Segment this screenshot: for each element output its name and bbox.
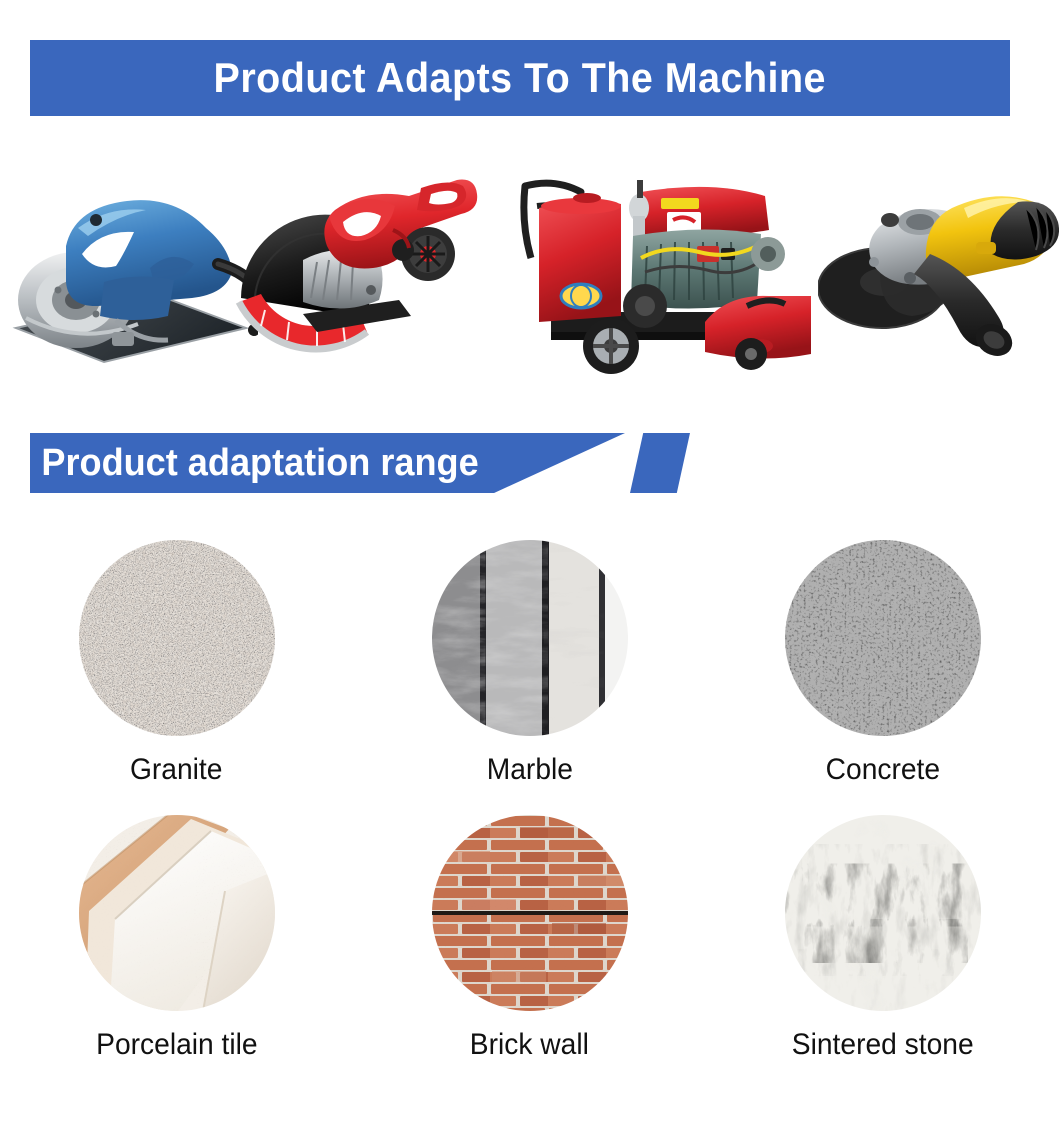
material-item-porcelain-tile[interactable]: Porcelain tile bbox=[0, 815, 353, 1090]
concrete-swatch-icon bbox=[785, 540, 981, 736]
material-label-sintered-stone: Sintered stone bbox=[792, 1030, 974, 1060]
material-grid: Granite bbox=[0, 540, 1059, 1090]
adaptation-range-bar: Product adaptation range bbox=[30, 433, 625, 493]
material-label-brick-wall: Brick wall bbox=[470, 1030, 589, 1060]
slash-decoration-icon bbox=[630, 433, 690, 493]
material-row: Granite bbox=[0, 540, 1059, 815]
material-row: Porcelain tile bbox=[0, 815, 1059, 1090]
granite-swatch-icon bbox=[79, 540, 275, 736]
material-label-porcelain-tile: Porcelain tile bbox=[96, 1030, 257, 1060]
material-label-granite: Granite bbox=[130, 755, 222, 785]
material-item-brick-wall[interactable]: Brick wall bbox=[353, 815, 706, 1090]
machine-image-blue-marble-cutter bbox=[8, 150, 258, 400]
material-label-concrete: Concrete bbox=[825, 755, 939, 785]
material-item-concrete[interactable]: Concrete bbox=[706, 540, 1059, 815]
machine-image-yellow-angle-grinder bbox=[818, 150, 1059, 400]
main-title-banner: Product Adapts To The Machine bbox=[30, 40, 1010, 116]
brick-wall-swatch-icon bbox=[432, 815, 628, 1011]
machine-image-red-cut-off-saw bbox=[225, 150, 490, 400]
machine-image-diesel-road-cutter bbox=[515, 150, 815, 400]
porcelain-tile-swatch-icon bbox=[79, 815, 275, 1011]
machine-image-row bbox=[0, 150, 1059, 400]
adaptation-range-title: Product adaptation range bbox=[30, 444, 479, 482]
marble-swatch-icon bbox=[432, 540, 628, 736]
sintered-stone-swatch-icon bbox=[785, 815, 981, 1011]
adaptation-range-banner: Product adaptation range bbox=[30, 433, 690, 493]
main-title-text: Product Adapts To The Machine bbox=[214, 57, 826, 99]
material-item-marble[interactable]: Marble bbox=[353, 540, 706, 815]
material-label-marble: Marble bbox=[486, 755, 572, 785]
material-item-sintered-stone[interactable]: Sintered stone bbox=[706, 815, 1059, 1090]
material-item-granite[interactable]: Granite bbox=[0, 540, 353, 815]
